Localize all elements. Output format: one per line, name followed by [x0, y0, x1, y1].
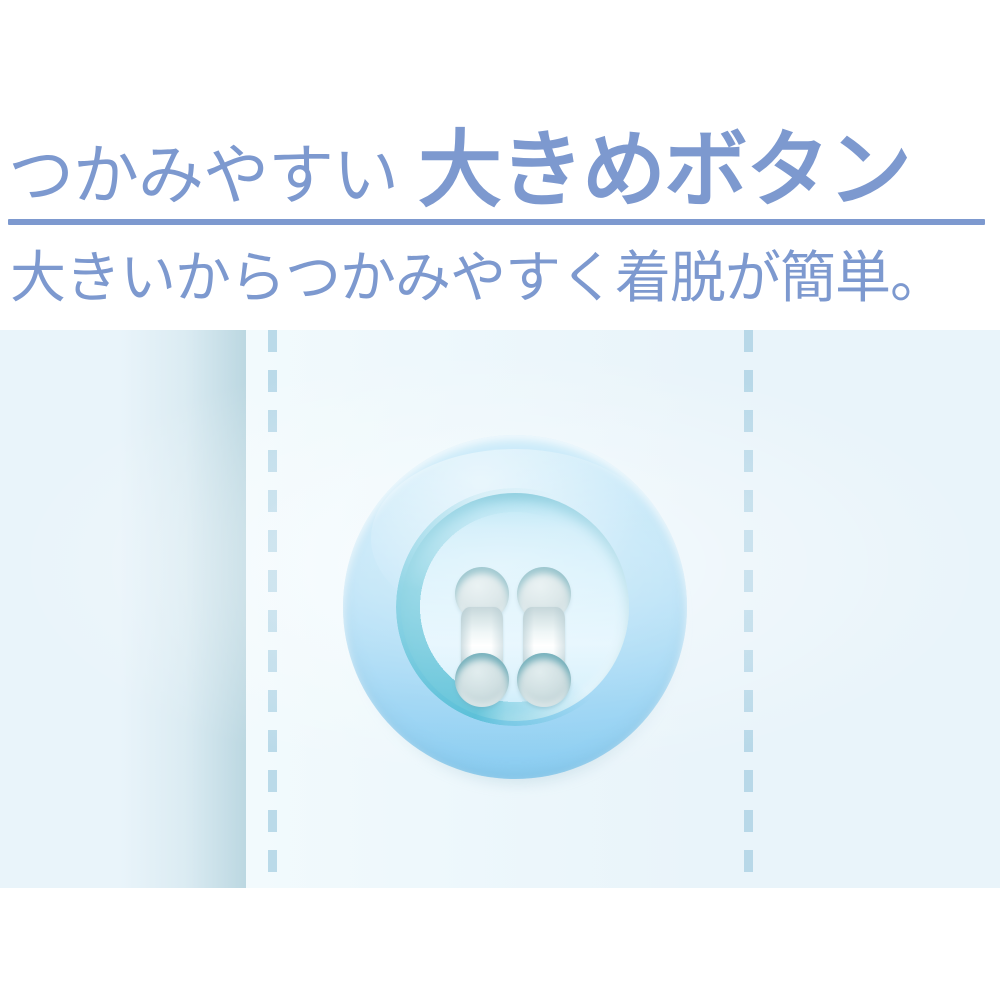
product-photo: 大きめボタンのクローズアップ写真 — [0, 330, 1000, 888]
stitch-line-right — [744, 330, 753, 888]
button-hole-bottom-right — [517, 653, 571, 707]
fabric-fold-shadow — [120, 330, 246, 888]
stitch-line-left — [268, 330, 277, 888]
banner-canvas: つかみやすい 大きめボタン 大きいからつかみやすく着脱が簡単。 — [0, 0, 1000, 1000]
title-divider — [8, 219, 985, 225]
page-title: つかみやすい 大きめボタン — [8, 100, 992, 212]
button-holes-group — [341, 425, 686, 795]
button-hole-bottom-left — [455, 653, 509, 707]
button-graphic — [341, 425, 686, 795]
headline-lead: つかみやすい — [8, 142, 398, 208]
subtitle: 大きいからつかみやすく着脱が簡単。 — [10, 243, 990, 313]
headline-emphasis: 大きめボタン — [418, 128, 910, 212]
